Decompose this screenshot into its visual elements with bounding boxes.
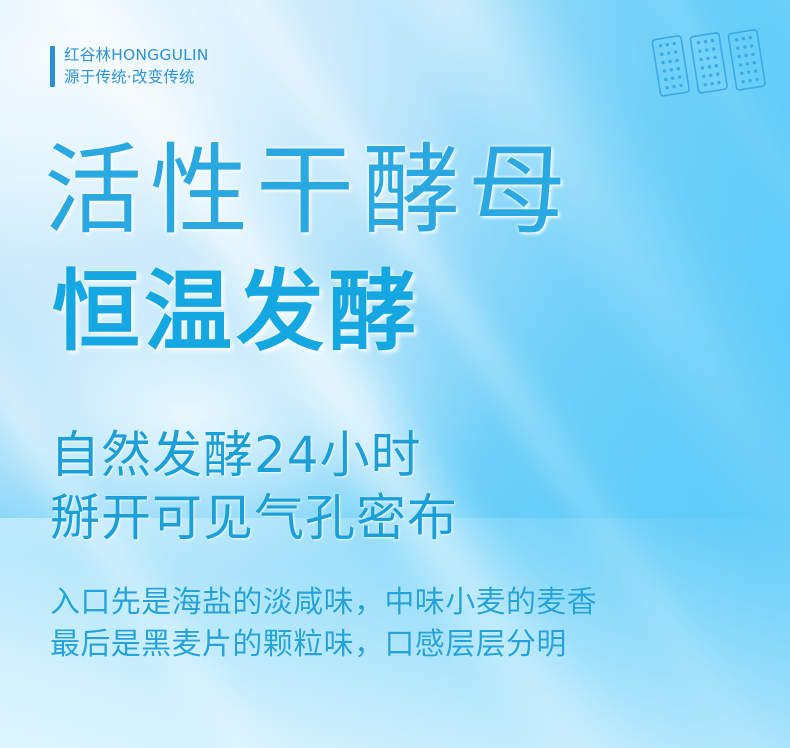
thin-headline: 活性干酵母 xyxy=(44,139,574,243)
cracker-stack-icon xyxy=(646,26,772,112)
body-copy-line-2: 最后是黑麦片的颗粒味，口感层层分明 xyxy=(50,624,597,666)
poster-content: 红谷林HONGGULIN 源于传统·改变传统 xyxy=(0,0,790,748)
body-copy-block: 入口先是海盐的淡咸味，中味小麦的麦香 最后是黑麦片的颗粒味，口感层层分明 xyxy=(50,582,597,666)
subheadline-block: 自然发酵24小时 掰开可见气孔密布 xyxy=(50,424,458,550)
brand-name: 红谷林HONGGULIN xyxy=(64,46,209,65)
subheadline-line-2: 掰开可见气孔密布 xyxy=(50,487,458,550)
brand-text-block: 红谷林HONGGULIN 源于传统·改变传统 xyxy=(64,46,209,87)
brand-accent-bar xyxy=(50,46,55,87)
subheadline-line-1: 自然发酵24小时 xyxy=(50,424,458,487)
brand-slogan: 源于传统·改变传统 xyxy=(64,68,209,87)
brand-lockup: 红谷林HONGGULIN 源于传统·改变传统 xyxy=(50,46,209,87)
body-copy-line-1: 入口先是海盐的淡咸味，中味小麦的麦香 xyxy=(50,582,597,624)
promo-poster: 红谷林HONGGULIN 源于传统·改变传统 xyxy=(0,0,790,748)
bold-headline: 恒温发酵 xyxy=(52,264,420,360)
